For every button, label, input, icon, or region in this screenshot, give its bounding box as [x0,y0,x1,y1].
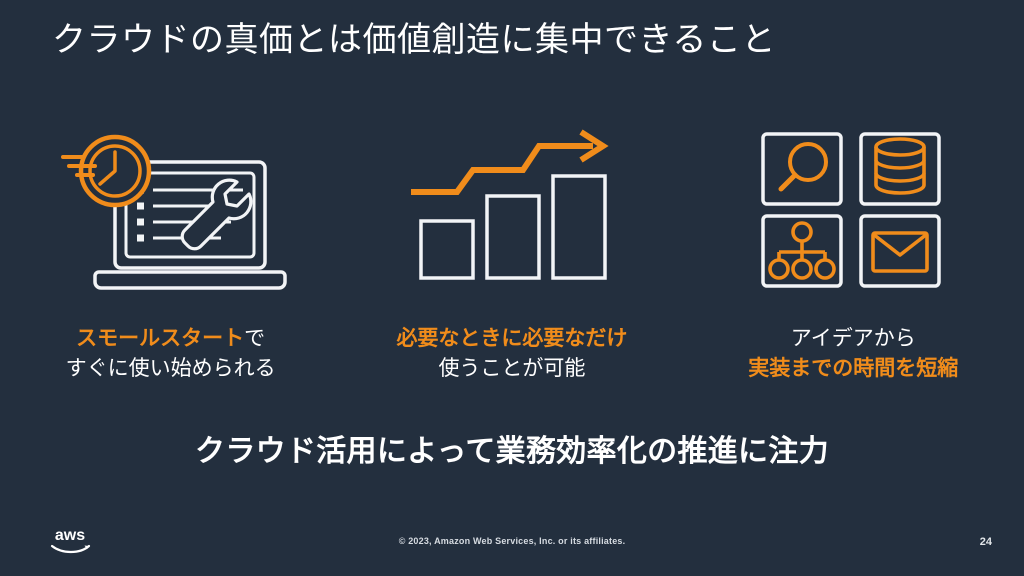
database-icon [876,139,924,193]
feature-column-3: アイデアから 実装までの時間を短縮 [683,118,1024,384]
caption-line-2: 実装までの時間を短縮 [748,354,958,384]
feature-columns: スモールスタートで すぐに使い始められる 必要なときに必要なだけ 使うこと [0,118,1024,408]
summary-statement: クラウド活用によって業務効率化の推進に注力 [0,432,1024,472]
caption-line-1: スモールスタートで [66,324,276,354]
growth-bar-chart-arrow-icon [407,118,617,298]
caption-line-2: すぐに使い始められる [66,354,276,384]
feature-column-2: 必要なときに必要なだけ 使うことが可能 [341,118,682,384]
search-icon [781,144,826,189]
caption-line-1: アイデアから [748,324,958,354]
slide-canvas: クラウドの真価とは価値創造に集中できること [0,0,1024,576]
caption-accent-text: 実装までの時間を短縮 [748,357,958,380]
caption-accent-text: 必要なときに必要なだけ [396,327,627,350]
feature-column-1: スモールスタートで すぐに使い始められる [0,118,341,384]
laptop-checklist-wrench-clock-icon [53,118,288,298]
page-title: クラウドの真価とは価値創造に集中できること [52,18,776,62]
caption-plain-text: 使うことが可能 [438,357,585,380]
feature-caption-1: スモールスタートで すぐに使い始められる [66,324,276,384]
copyright-text: © 2023, Amazon Web Services, Inc. or its… [0,536,1024,546]
page-number: 24 [980,536,992,548]
caption-line-1: 必要なときに必要なだけ [396,324,627,354]
caption-line-2: 使うことが可能 [396,354,627,384]
caption-plain-text: で [244,327,265,350]
caption-plain-text: アイデアから [791,327,916,350]
hierarchy-icon [770,223,834,278]
feature-caption-3: アイデアから 実装までの時間を短縮 [748,324,958,384]
service-grid-icon [757,118,949,298]
caption-plain-text: すぐに使い始められる [66,357,276,380]
envelope-icon [873,233,927,271]
feature-caption-2: 必要なときに必要なだけ 使うことが可能 [396,324,627,384]
caption-accent-text: スモールスタート [76,327,244,350]
